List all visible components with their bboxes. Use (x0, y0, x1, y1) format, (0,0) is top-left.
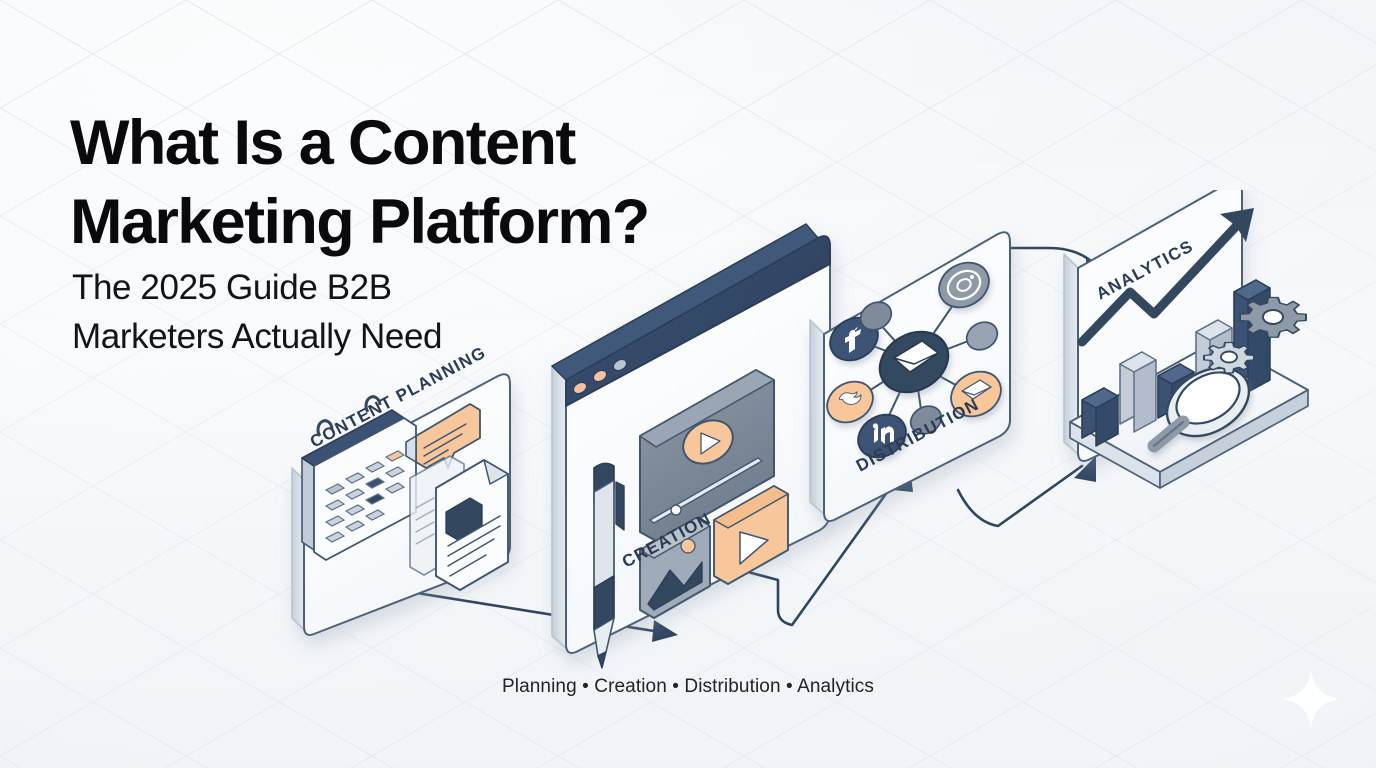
headline-line-2: Marketing Platform? (70, 183, 770, 262)
subhead-line-2: Marketers Actually Need (72, 312, 692, 361)
arrowhead-creation (652, 620, 678, 642)
stage-caption: Planning • Creation • Distribution • Ana… (0, 676, 1376, 698)
subhead-line-1: The 2025 Guide B2B (72, 268, 392, 307)
connector-top-to-analytics (1002, 248, 1096, 266)
page-subtitle: The 2025 Guide B2B Marketers Actually Ne… (72, 263, 692, 361)
headline-line-1: What Is a Content (70, 108, 575, 178)
connector-distribution-to-analytics (958, 466, 1082, 526)
sparkle-icon (1280, 668, 1342, 730)
poster-canvas: CONTENT PLANNING (0, 0, 1376, 768)
page-title: What Is a Content Marketing Platform? (70, 104, 770, 262)
document-icon (410, 456, 508, 590)
